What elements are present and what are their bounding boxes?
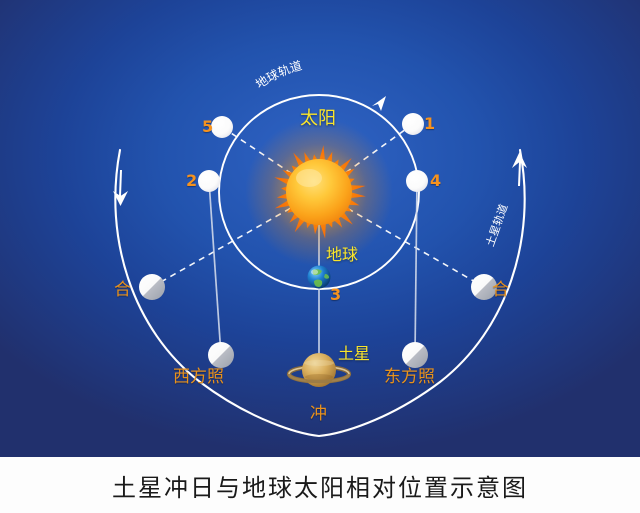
aspect-label-east-quadrature: 东方照 [384, 369, 435, 386]
figure-caption: 土星冲日与地球太阳相对位置示意图 [0, 457, 640, 513]
saturn-marker-east-quadrature [402, 342, 428, 368]
earth-number-4: 4 [430, 173, 441, 189]
sun-label: 太阳 [300, 110, 336, 128]
aspect-label-opposition: 冲 [310, 406, 327, 423]
aspect-label-west-quadrature: 西方照 [173, 369, 224, 386]
aspect-label-conjunction-right: 合 [492, 282, 509, 299]
saturn-marker-conjunction-left [139, 274, 165, 300]
saturn-orbit-label: 土星轨道 [484, 202, 511, 248]
earth-number-3: 3 [330, 287, 341, 303]
earth-orbit-arrow [372, 96, 386, 111]
earth-number-5: 5 [202, 119, 213, 135]
aspect-label-conjunction-left: 合 [114, 282, 131, 299]
earth-number-1: 1 [424, 116, 435, 132]
saturn-opposition-diagram: 地球轨道 土星轨道 太阳 地球 3 土星 1 2 4 5 合 合 西方照 东方照… [0, 0, 640, 513]
earth-position-2 [198, 170, 220, 192]
earth-label: 地球 [326, 247, 358, 263]
diagram-canvas: 地球轨道 土星轨道 [0, 0, 640, 457]
earth-orbit-label: 地球轨道 [253, 58, 303, 91]
earth [308, 266, 331, 289]
earth-position-5 [211, 116, 233, 138]
earth-position-4 [406, 170, 428, 192]
earth-number-2: 2 [186, 173, 197, 189]
sun [245, 118, 393, 266]
saturn-label: 土星 [338, 346, 370, 362]
saturn-marker-west-quadrature [208, 342, 234, 368]
earth-position-1 [402, 113, 424, 135]
